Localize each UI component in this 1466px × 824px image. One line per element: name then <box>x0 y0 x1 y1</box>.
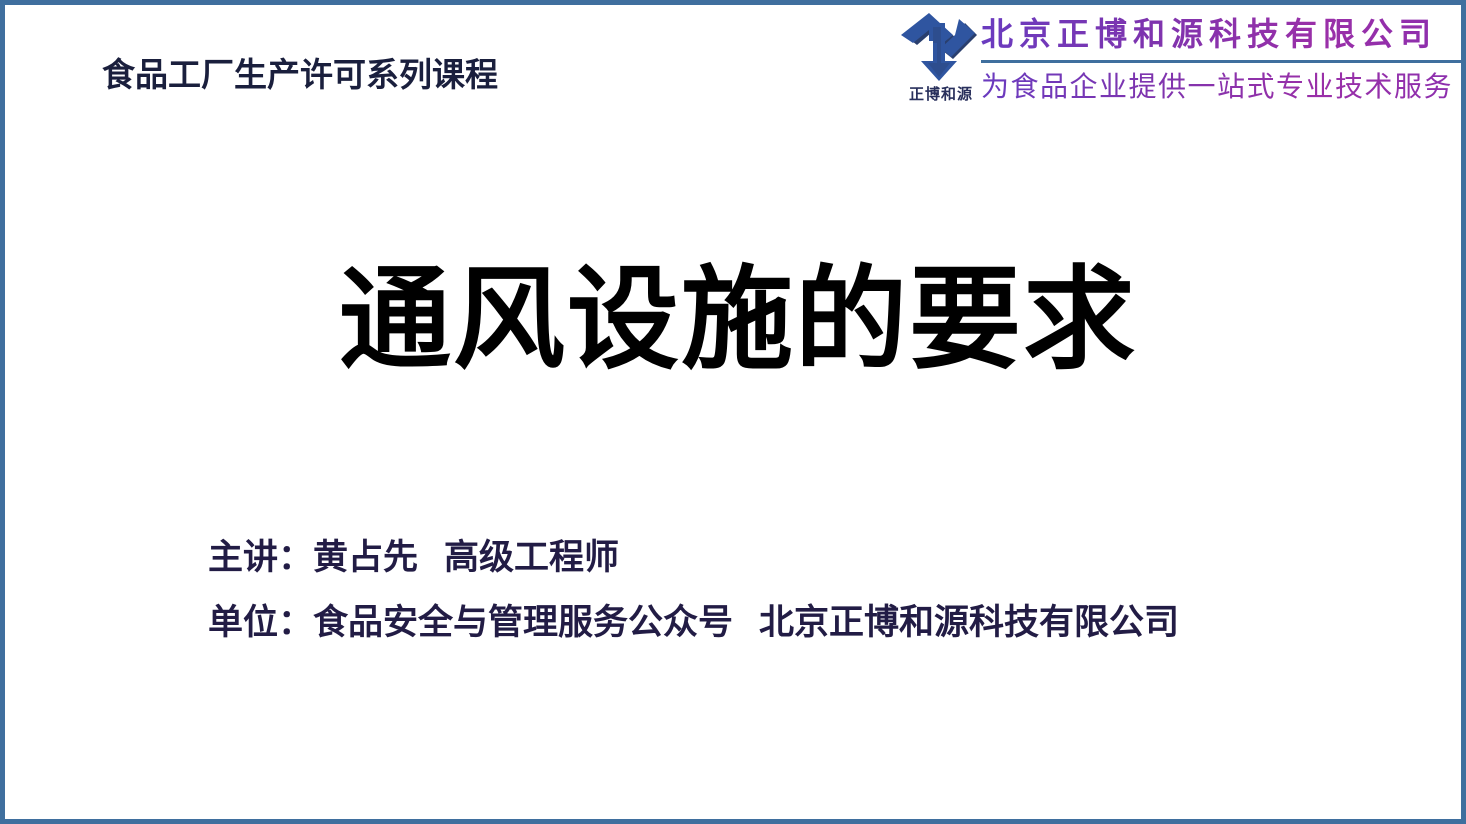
company-slogan: 为食品企业提供一站式专业技术服务 <box>981 65 1466 109</box>
presenter-rank: 高级工程师 <box>444 538 619 577</box>
company-divider-rule <box>981 60 1466 63</box>
course-series-title: 食品工厂生产许可系列课程 <box>102 57 498 93</box>
presenter-label: 主讲： <box>208 538 313 577</box>
presenter-name: 黄占先 <box>313 538 418 577</box>
presenter-line: 主讲：黄占先高级工程师 <box>208 540 1408 575</box>
logo-caption: 正博和源 <box>889 83 993 104</box>
organisation-label: 单位： <box>208 603 313 642</box>
presentation-slide: 食品工厂生产许可系列课程 正博和源 北京正博 <box>0 0 1466 824</box>
slide-main-title: 通风设施的要求 <box>5 257 1466 382</box>
company-branding-block: 正博和源 北京正博和源科技有限公司 为食品企业提供一站式专业技术服务 <box>889 9 1466 115</box>
company-z-diamond-logo-icon <box>895 11 987 83</box>
organisation-secondary: 北京正博和源科技有限公司 <box>759 603 1179 642</box>
company-text-group: 北京正博和源科技有限公司 为食品企业提供一站式专业技术服务 <box>981 9 1466 109</box>
slide-meta-block: 主讲：黄占先高级工程师 单位：食品安全与管理服务公众号北京正博和源科技有限公司 <box>208 540 1408 640</box>
organisation-line: 单位：食品安全与管理服务公众号北京正博和源科技有限公司 <box>208 605 1408 640</box>
company-name: 北京正博和源科技有限公司 <box>981 9 1466 59</box>
organisation-primary: 食品安全与管理服务公众号 <box>313 603 733 642</box>
company-logo: 正博和源 <box>889 11 993 113</box>
